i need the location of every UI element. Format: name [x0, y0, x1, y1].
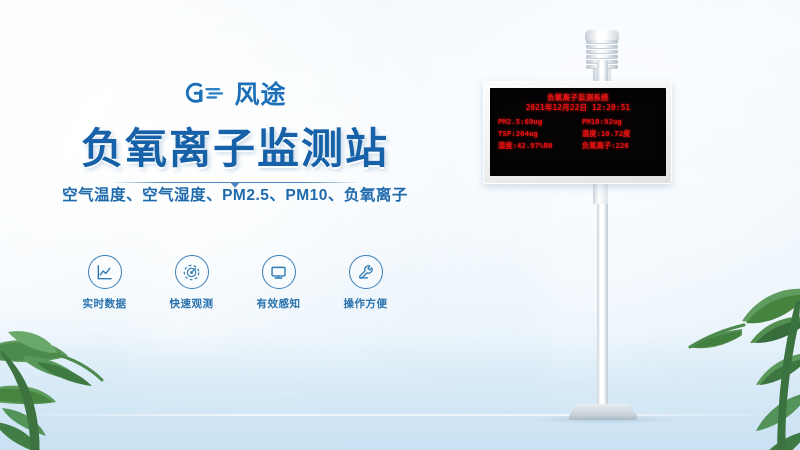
led-reading: PM2.5:69ug	[498, 116, 576, 127]
page-title: 负氧离子监测站	[0, 126, 470, 172]
copy-block: 风途 负氧离子监测站 空气温度、空气湿度、PM2.5、PM10、负氧离子	[0, 78, 470, 205]
led-screen: 负氧离子监测系统 2021年12月22日 12:20:51 PM2.5:69ug…	[490, 88, 666, 176]
radar-scan-icon	[175, 255, 209, 289]
feature-label: 操作方便	[335, 296, 397, 311]
led-reading: TSP:204ug	[498, 128, 576, 139]
led-readings-grid: PM2.5:69ug PM10:92ug TSP:204ug 温度:10.72度…	[496, 116, 660, 151]
wrench-icon	[349, 255, 383, 289]
led-title: 负氧离子监测系统	[496, 93, 660, 102]
display-mount-stem	[593, 182, 608, 204]
wind-route-logo-icon	[183, 80, 227, 111]
feature-label: 有效感知	[248, 296, 310, 311]
pole-shadow	[525, 415, 685, 424]
feature-label: 快速观测	[161, 296, 223, 311]
line-chart-icon	[88, 255, 122, 289]
feature-item-fast-observation: 快速观测	[161, 255, 223, 311]
feature-item-realtime-data: 实时数据	[74, 255, 136, 311]
brand-logo: 风途	[0, 78, 470, 112]
feature-list: 实时数据 快速观测 有效感知	[0, 255, 470, 311]
feature-item-easy-operation: 操作方便	[335, 255, 397, 311]
brand-name: 风途	[234, 83, 286, 108]
monitor-screen-icon	[262, 255, 296, 289]
led-display-panel: 负氧离子监测系统 2021年12月22日 12:20:51 PM2.5:69ug…	[483, 81, 672, 184]
led-reading: 温度:10.72度	[582, 128, 660, 139]
banner-stage: 风途 负氧离子监测站 空气温度、空气湿度、PM2.5、PM10、负氧离子 实时数…	[0, 0, 800, 450]
led-reading: 负氧离子:226	[582, 140, 660, 151]
feature-item-effective-sensing: 有效感知	[248, 255, 310, 311]
feature-label: 实时数据	[74, 296, 136, 311]
led-datetime: 2021年12月22日 12:20:51	[496, 102, 660, 113]
led-reading: PM10:92ug	[582, 116, 660, 127]
led-reading: 湿度:42.97%RH	[498, 140, 576, 151]
monitoring-station: 负氧离子监测系统 2021年12月22日 12:20:51 PM2.5:69ug…	[430, 0, 800, 450]
